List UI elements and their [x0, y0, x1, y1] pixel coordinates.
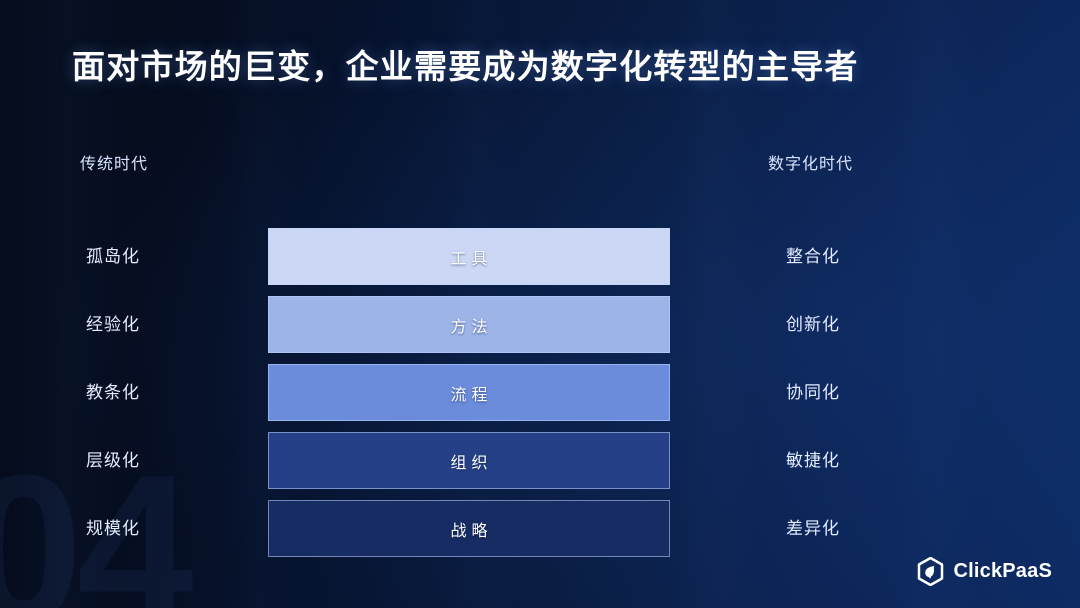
row-label-right: 整合化	[786, 228, 840, 285]
row-label-right: 协同化	[786, 364, 840, 421]
row-label-left: 孤岛化	[86, 228, 140, 285]
matrix-row: 教条化 流程 协同化	[0, 364, 1080, 421]
page-title: 面对市场的巨变，企业需要成为数字化转型的主导者	[72, 40, 859, 88]
matrix-row: 经验化 方法 创新化	[0, 296, 1080, 353]
center-bar-label: 工具	[445, 245, 492, 269]
row-label-left: 经验化	[86, 296, 140, 353]
brand-logo: ClickPaaS	[917, 557, 1052, 586]
matrix-row: 规模化 战略 差异化	[0, 500, 1080, 557]
row-label-left: 规模化	[86, 500, 140, 557]
center-bar-label: 流程	[445, 381, 492, 405]
row-label-left: 教条化	[86, 364, 140, 421]
hexagon-leaf-icon	[917, 557, 944, 586]
column-header-right: 数字化时代	[768, 150, 853, 174]
column-header-left: 传统时代	[80, 150, 148, 174]
brand-name: ClickPaaS	[953, 560, 1052, 583]
center-bar[interactable]: 战略	[268, 500, 670, 557]
center-bar-label: 组织	[445, 449, 492, 473]
row-label-left: 层级化	[86, 432, 140, 489]
center-bar-label: 方法	[445, 313, 492, 337]
center-bar[interactable]: 工具	[268, 228, 670, 285]
center-bar[interactable]: 方法	[268, 296, 670, 353]
row-label-right: 创新化	[786, 296, 840, 353]
comparison-matrix: 孤岛化 工具 整合化 经验化 方法 创新化 教条化 流程 协同化 层级化 组织	[0, 228, 1080, 568]
center-bar[interactable]: 流程	[268, 364, 670, 421]
center-bar-label: 战略	[445, 517, 492, 541]
matrix-row: 孤岛化 工具 整合化	[0, 228, 1080, 285]
row-label-right: 敏捷化	[786, 432, 840, 489]
row-label-right: 差异化	[786, 500, 840, 557]
matrix-row: 层级化 组织 敏捷化	[0, 432, 1080, 489]
slide-canvas: 04 面对市场的巨变，企业需要成为数字化转型的主导者 传统时代 数字化时代 孤岛…	[0, 0, 1080, 608]
center-bar[interactable]: 组织	[268, 432, 670, 489]
